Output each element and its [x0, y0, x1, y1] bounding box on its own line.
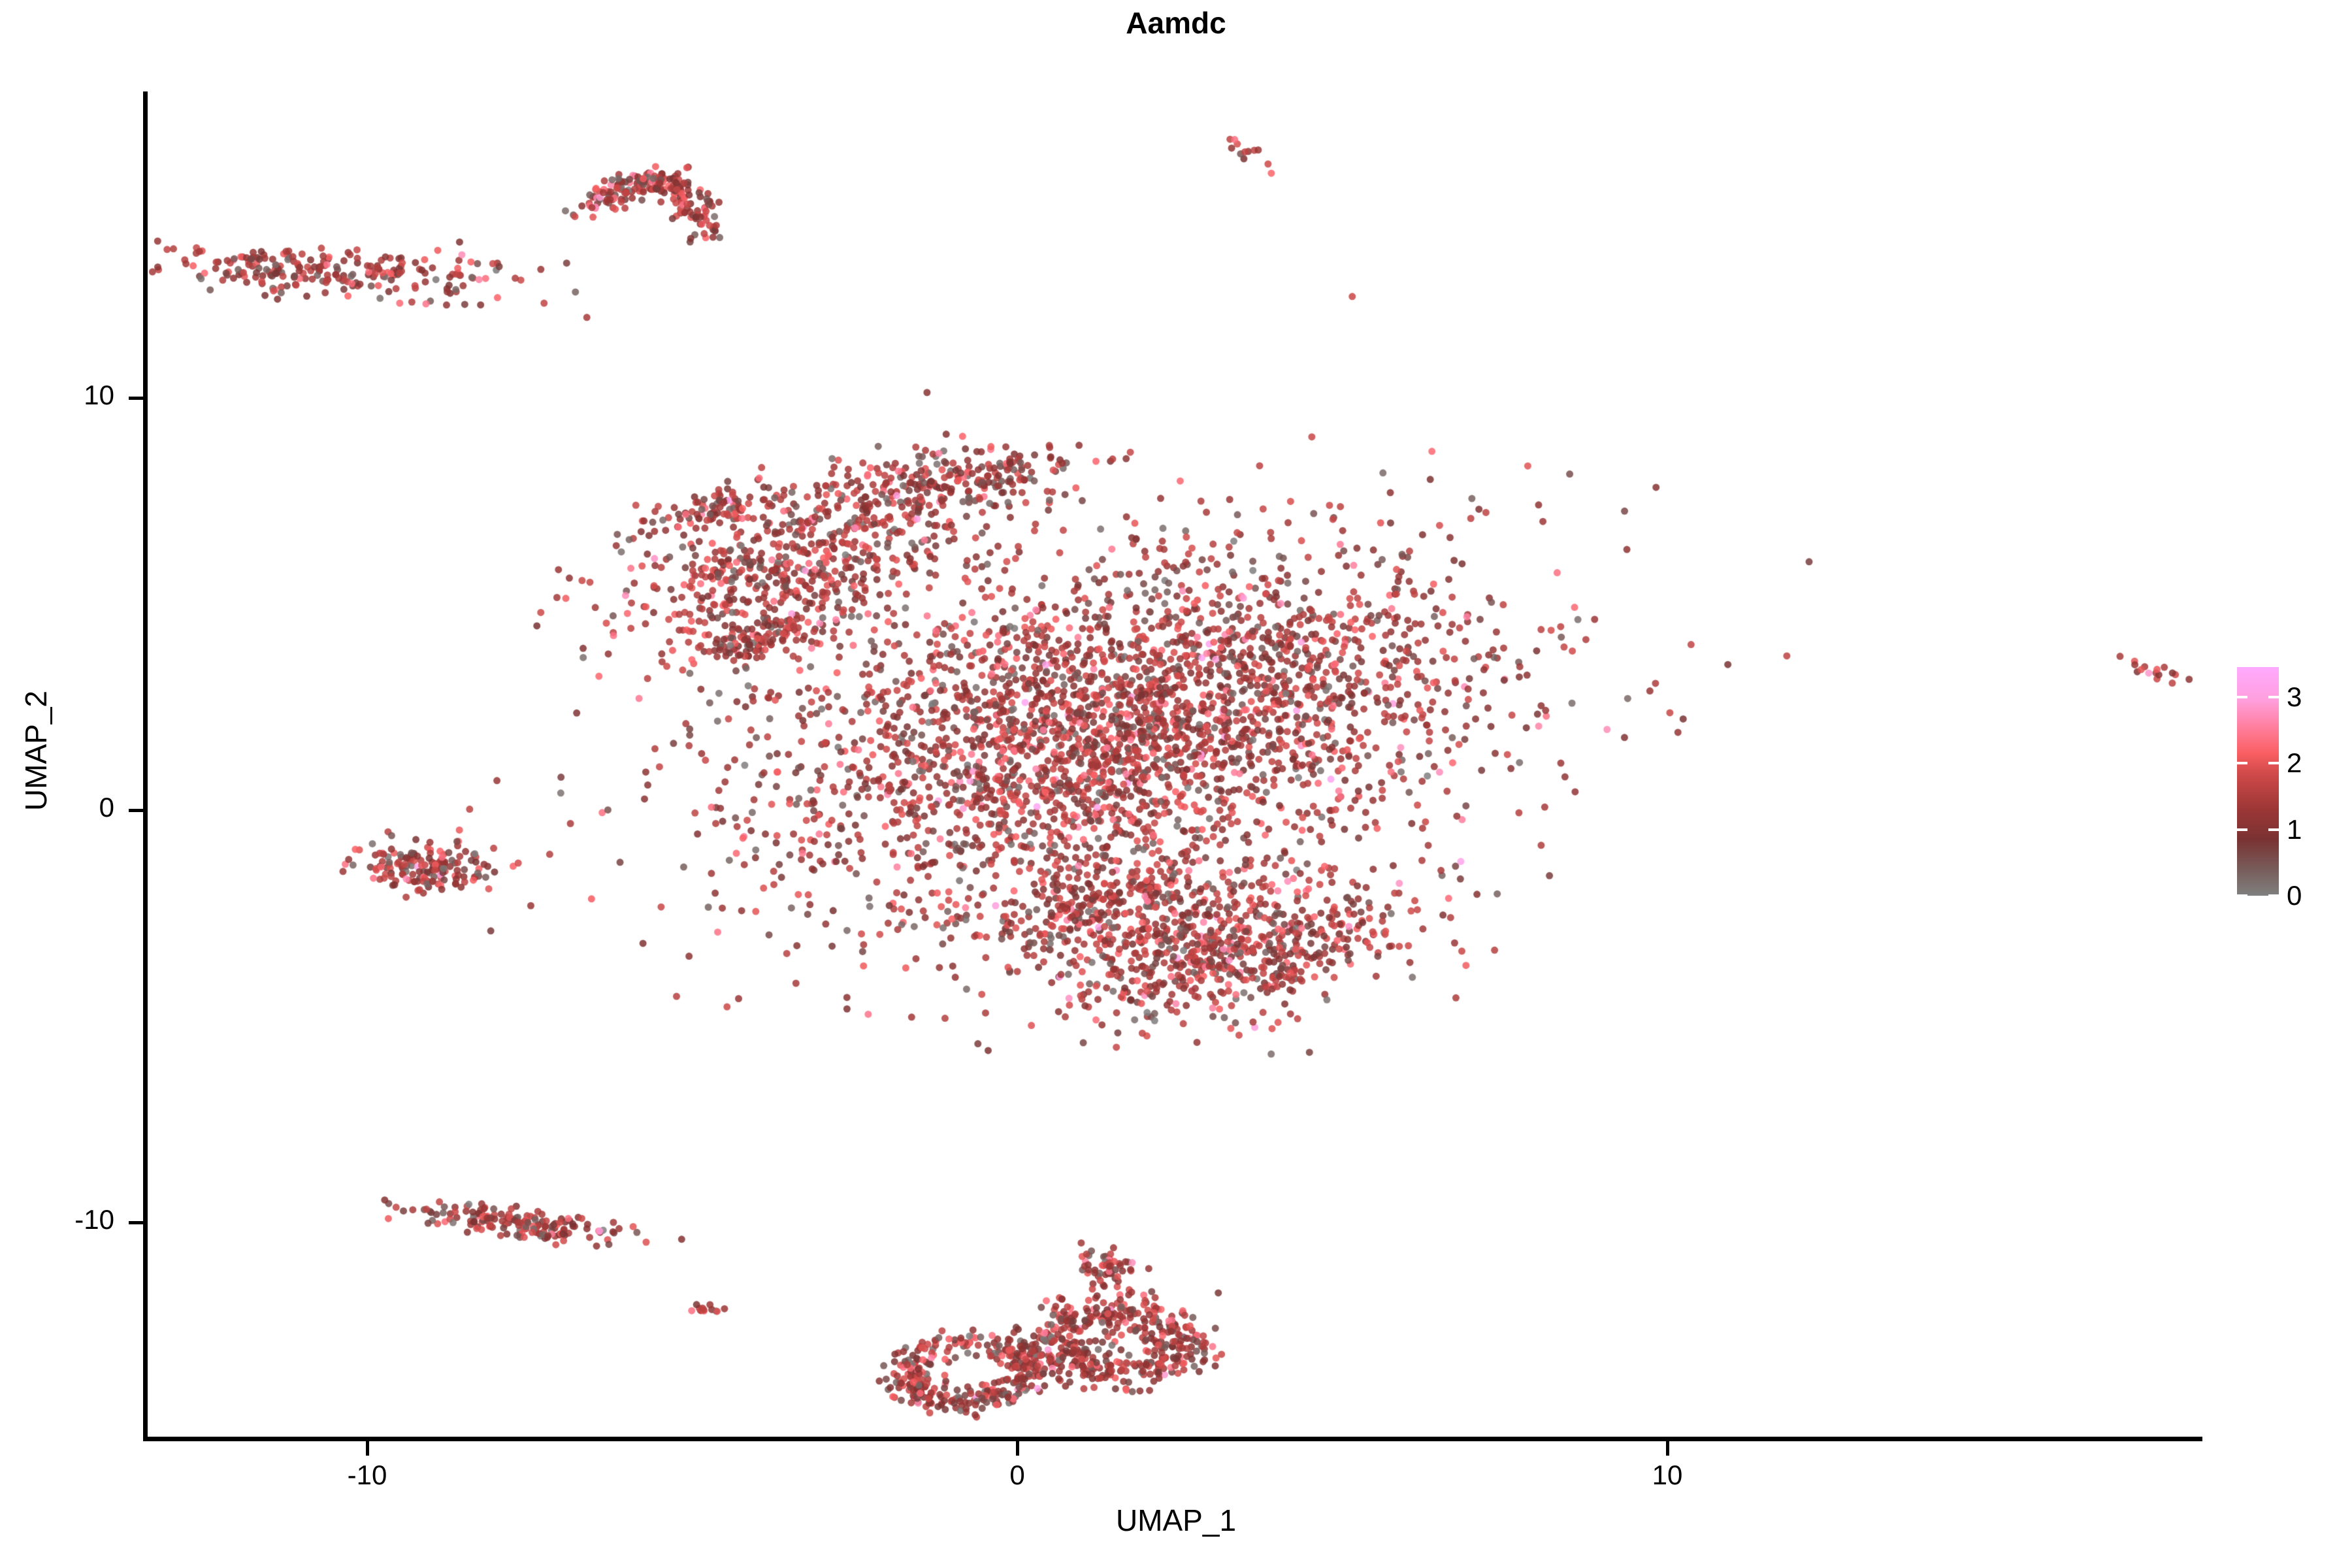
- y-tick-label: -10: [74, 1204, 114, 1235]
- y-axis-title: UMAP_2: [18, 542, 54, 960]
- page-title: Aamdc: [0, 5, 2352, 41]
- x-tick-label: -10: [302, 1460, 433, 1491]
- colorbar-gradient: [2237, 667, 2279, 896]
- x-tick-mark: [366, 1441, 369, 1456]
- colorbar-tick-label: 1: [2287, 814, 2302, 845]
- colorbar-legend: 3210: [2237, 667, 2348, 900]
- colorbar-tick-mark: [2237, 894, 2279, 897]
- umap-feature-plot: Aamdc 100-10 -10010 UMAP_1 UMAP_2 3210: [0, 0, 2352, 1568]
- colorbar-tick-label: 0: [2287, 880, 2302, 911]
- x-tick-label: 10: [1602, 1460, 1733, 1491]
- colorbar-tick-label: 2: [2287, 747, 2302, 779]
- plot-panel: [148, 91, 2202, 1437]
- colorbar-tick-mark: [2237, 762, 2279, 764]
- scatter-points-layer: [148, 91, 2202, 1437]
- y-tick-label: 0: [99, 792, 114, 823]
- y-axis-line: [143, 91, 148, 1441]
- y-tick-mark: [129, 809, 143, 812]
- colorbar-tick-mark: [2237, 696, 2279, 698]
- x-axis-title: UMAP_1: [0, 1503, 2352, 1538]
- x-tick-label: 0: [952, 1460, 1083, 1491]
- y-tick-mark: [129, 397, 143, 400]
- x-tick-mark: [1016, 1441, 1019, 1456]
- x-tick-mark: [1666, 1441, 1669, 1456]
- colorbar-tick-mark: [2237, 828, 2279, 831]
- y-tick-label: 10: [84, 380, 114, 411]
- colorbar-tick-label: 3: [2287, 681, 2302, 713]
- x-axis-line: [143, 1437, 2202, 1441]
- y-tick-mark: [129, 1221, 143, 1224]
